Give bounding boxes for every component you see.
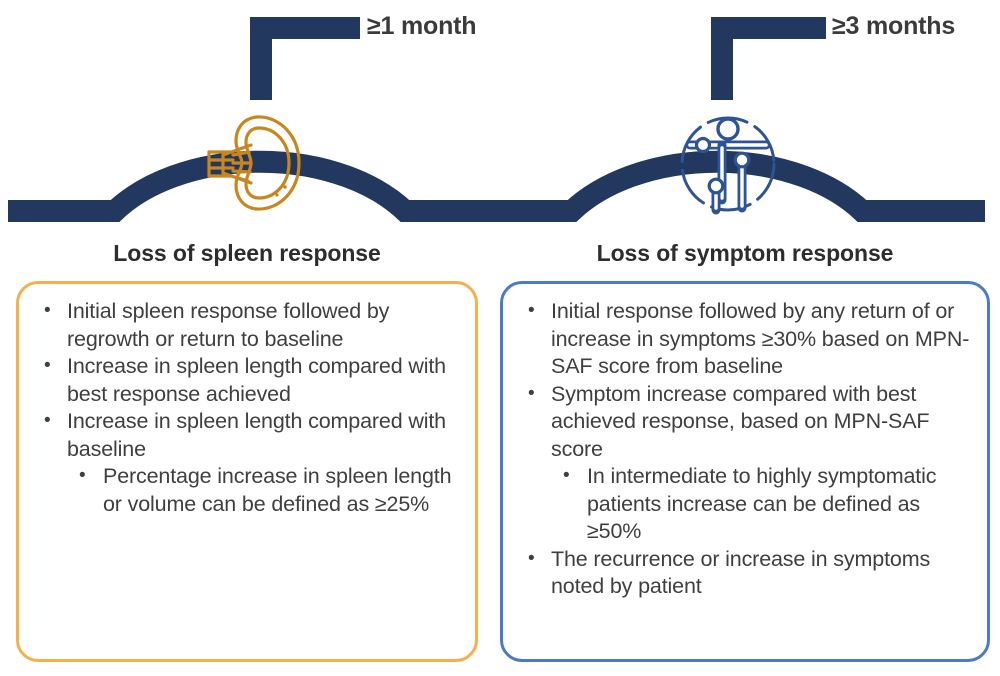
spleen-icon [203, 111, 311, 215]
bullet-text: Symptom increase compared with best achi… [551, 382, 929, 461]
sub-list-item: In intermediate to highly symptomatic pa… [551, 463, 973, 546]
list-item: Initial response followed by any return … [517, 298, 973, 381]
bullet-text: Initial response followed by any return … [551, 299, 969, 378]
bullet-text: Increase in spleen length compared with … [67, 354, 446, 406]
bullet-text: Increase in spleen length compared with … [67, 409, 446, 461]
duration-label-right: ≥3 months [832, 12, 955, 41]
spleen-response-box: Initial spleen response followed by regr… [16, 281, 478, 662]
list-item: Symptom increase compared with best achi… [517, 381, 973, 546]
symptom-body-icon [676, 112, 780, 216]
list-item: Increase in spleen length compared with … [33, 353, 461, 408]
sub-list-item: Percentage increase in spleen length or … [67, 463, 461, 518]
list-item: Increase in spleen length compared with … [33, 408, 461, 518]
panel-heading-symptom: Loss of symptom response [500, 240, 990, 267]
right-connector-line [722, 28, 826, 100]
duration-label-left: ≥1 month [367, 12, 476, 41]
left-connector-line [261, 28, 360, 100]
list-item: Initial spleen response followed by regr… [33, 298, 461, 353]
panel-heading-spleen: Loss of spleen response [16, 240, 478, 267]
bullet-text: Initial spleen response followed by regr… [67, 299, 389, 351]
bullet-text: The recurrence or increase in symptoms n… [551, 547, 930, 599]
timeline-path [8, 162, 985, 211]
spleen-bullet-list: Initial spleen response followed by regr… [19, 284, 475, 518]
sub-bullet-text: In intermediate to highly symptomatic pa… [587, 464, 936, 543]
list-item: The recurrence or increase in symptoms n… [517, 546, 973, 601]
symptom-sub-bullet-list: In intermediate to highly symptomatic pa… [551, 463, 973, 546]
symptom-bullet-list: Initial response followed by any return … [503, 284, 987, 601]
symptom-response-box: Initial response followed by any return … [500, 281, 990, 662]
infographic-canvas: ≥1 month ≥3 months [0, 0, 1000, 676]
sub-bullet-text: Percentage increase in spleen length or … [103, 464, 451, 516]
spleen-sub-bullet-list: Percentage increase in spleen length or … [67, 463, 461, 518]
